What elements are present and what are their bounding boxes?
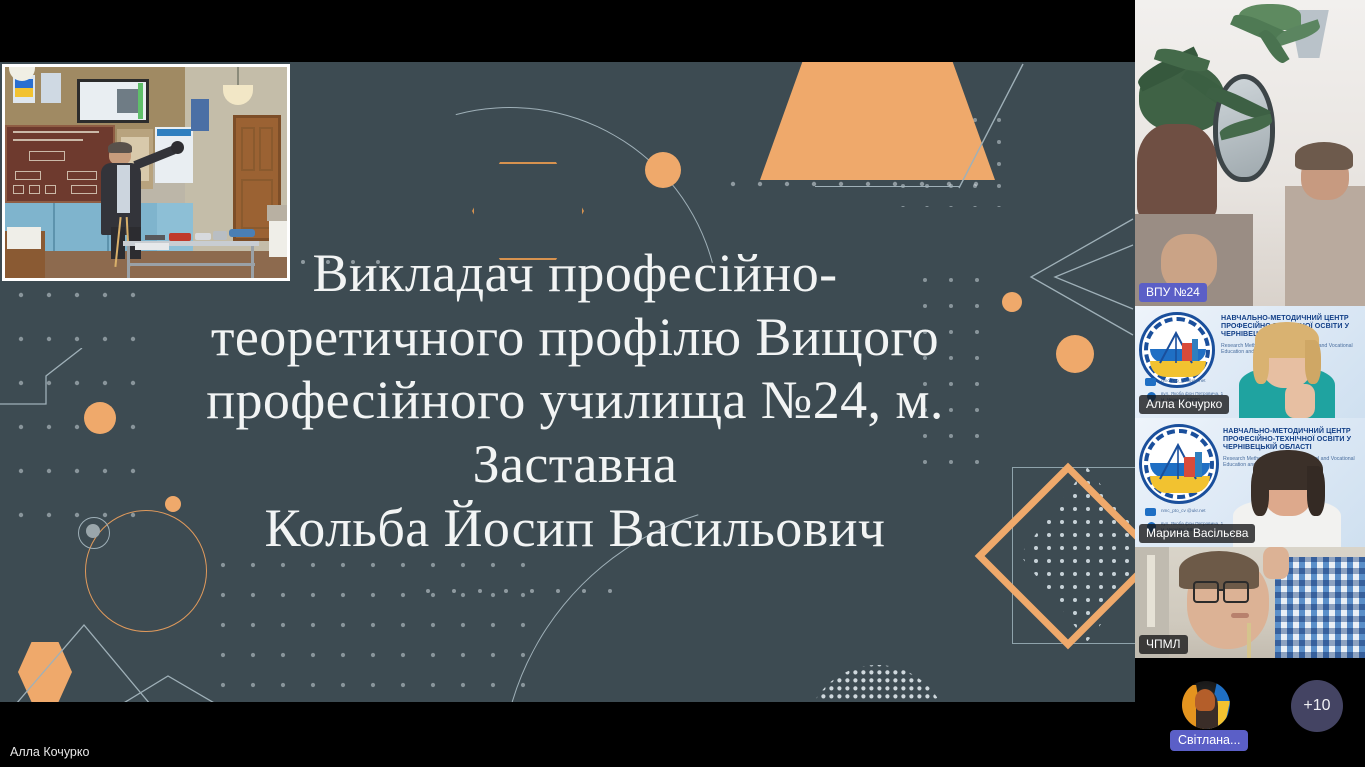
avatar[interactable]	[1182, 681, 1230, 729]
overflow-participant-label: Світлана...	[1170, 730, 1248, 751]
more-participants-badge[interactable]: +10	[1291, 680, 1343, 732]
shared-screen-stage[interactable]: Викладач професійно- теоретичного профіл…	[0, 0, 1135, 767]
glasses-right-lens	[1223, 581, 1249, 603]
title-line-2: теоретичного профілю Вищого	[180, 306, 970, 370]
participant-tile-chpml[interactable]: ЧПМЛ	[1135, 547, 1365, 658]
circle-accent-3	[1056, 335, 1094, 373]
participant-rail: ВПУ №24 НАВЧАЛЬНО-МЕТОДИЧНИЙ ЦЕНТ	[1135, 0, 1365, 767]
participant-tile-maryna[interactable]: НАВЧАЛЬНО-МЕТОДИЧНИЙ ЦЕНТР ПРОФЕСІЙНО-ТЕ…	[1135, 418, 1365, 547]
thin-line-1	[815, 186, 960, 187]
circle-accent-5	[165, 496, 181, 512]
presentation-slide: Викладач професійно- теоретичного профіл…	[0, 62, 1135, 702]
circle-accent-2	[1002, 292, 1022, 312]
nmc-logo-icon	[1139, 312, 1215, 388]
participant-label-maryna: Марина Васільєва	[1139, 524, 1255, 543]
circle-accent-1	[645, 152, 681, 188]
triangle-outlines	[10, 624, 310, 702]
email-icon-2	[1145, 508, 1156, 516]
participant-tile-alla[interactable]: НАВЧАЛЬНО-МЕТОДИЧНИЙ ЦЕНТР ПРОФЕСІЙНО-ТЕ…	[1135, 306, 1365, 418]
title-line-3: професійного училища №24, м.	[180, 369, 970, 433]
title-line-1: Викладач професійно-	[180, 242, 970, 306]
glasses-left-lens	[1193, 581, 1219, 603]
presenter-name-label: Алла Кочурко	[10, 745, 89, 759]
logo-email: nmc_pto_cv @ukr.net	[1161, 378, 1206, 383]
logo-email-2: nmc_pto_cv @ukr.net	[1161, 508, 1206, 513]
email-icon	[1145, 378, 1156, 386]
participant-label-vpu24: ВПУ №24	[1139, 283, 1207, 302]
participant-tile-vpu24[interactable]: ВПУ №24	[1135, 0, 1365, 306]
step-line	[0, 348, 90, 408]
nmc-logo-icon-2	[1139, 424, 1219, 504]
title-line-4: Заставна	[180, 433, 970, 497]
title-line-5: Кольба Йосип Васильович	[180, 497, 970, 561]
page-title: Викладач професійно- теоретичного профіл…	[180, 242, 970, 561]
circle-grey-dot	[86, 524, 100, 538]
participant-label-alla: Алла Кочурко	[1139, 395, 1229, 414]
logo-title-2: НАВЧАЛЬНО-МЕТОДИЧНИЙ ЦЕНТР ПРОФЕСІЙНО-ТЕ…	[1223, 428, 1363, 452]
participant-label-chpml: ЧПМЛ	[1139, 635, 1188, 654]
video-feed-room	[1135, 0, 1365, 306]
chevron-lines	[1015, 217, 1135, 337]
meeting-window: Викладач професійно- теоретичного профіл…	[0, 0, 1365, 767]
thin-line-diagonal	[955, 62, 1025, 190]
overflow-participants-strip: Світлана... +10	[1135, 658, 1365, 767]
